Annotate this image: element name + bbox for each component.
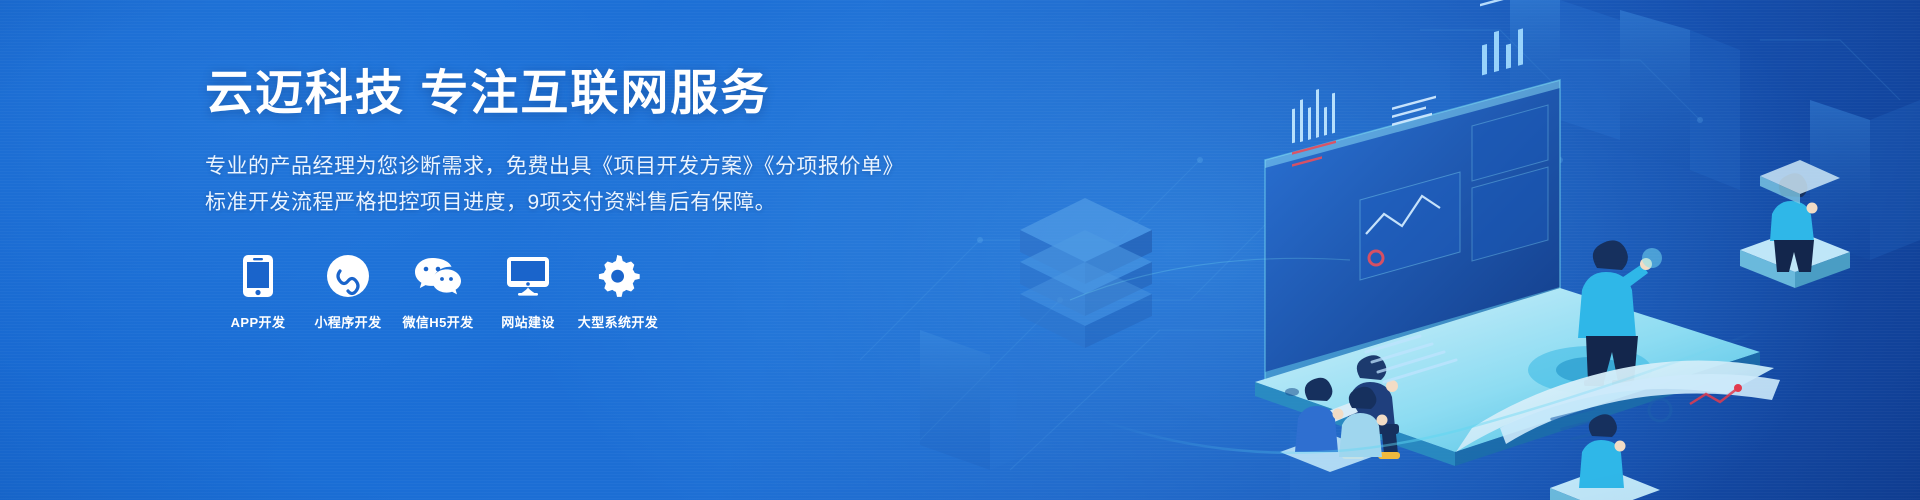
service-item-mini-program[interactable]: 小程序开发 (311, 253, 385, 331)
service-item-enterprise-system[interactable]: 大型系统开发 (581, 253, 655, 331)
monitor-icon (505, 253, 551, 299)
illustration-person-front (1579, 414, 1626, 488)
isometric-tech-illustration (860, 0, 1920, 500)
service-label-wechat: 微信H5开发 (402, 312, 473, 331)
banner-content: 云迈科技 专注互联网服务 专业的产品经理为您诊断需求，免费出具《项目开发方案》《… (205, 66, 945, 331)
mini-program-icon (325, 253, 371, 299)
mobile-phone-icon (235, 253, 281, 299)
service-label-enterprise-system: 大型系统开发 (578, 312, 658, 331)
banner-subtitle: 专业的产品经理为您诊断需求，免费出具《项目开发方案》《分项报价单》 标准开发流程… (205, 149, 945, 221)
service-item-wechat[interactable]: 微信H5开发 (401, 253, 475, 331)
wechat-icon (415, 253, 461, 299)
service-item-app[interactable]: APP开发 (221, 253, 295, 331)
subtitle-line-1: 专业的产品经理为您诊断需求，免费出具《项目开发方案》《分项报价单》 (205, 149, 945, 185)
page-title: 云迈科技 专注互联网服务 (205, 66, 945, 123)
service-item-website[interactable]: 网站建设 (491, 253, 565, 331)
service-label-app: APP开发 (231, 312, 286, 331)
gear-icon (595, 253, 641, 299)
hero-banner: 云迈科技 专注互联网服务 专业的产品经理为您诊断需求，免费出具《项目开发方案》《… (0, 0, 1920, 500)
subtitle-line-2: 标准开发流程严格把控项目进度，9项交付资料售后有保障。 (205, 185, 945, 221)
service-label-website: 网站建设 (501, 312, 555, 331)
service-list: APP开发 小程序开发 (221, 253, 945, 331)
service-label-mini-program: 小程序开发 (314, 312, 381, 331)
